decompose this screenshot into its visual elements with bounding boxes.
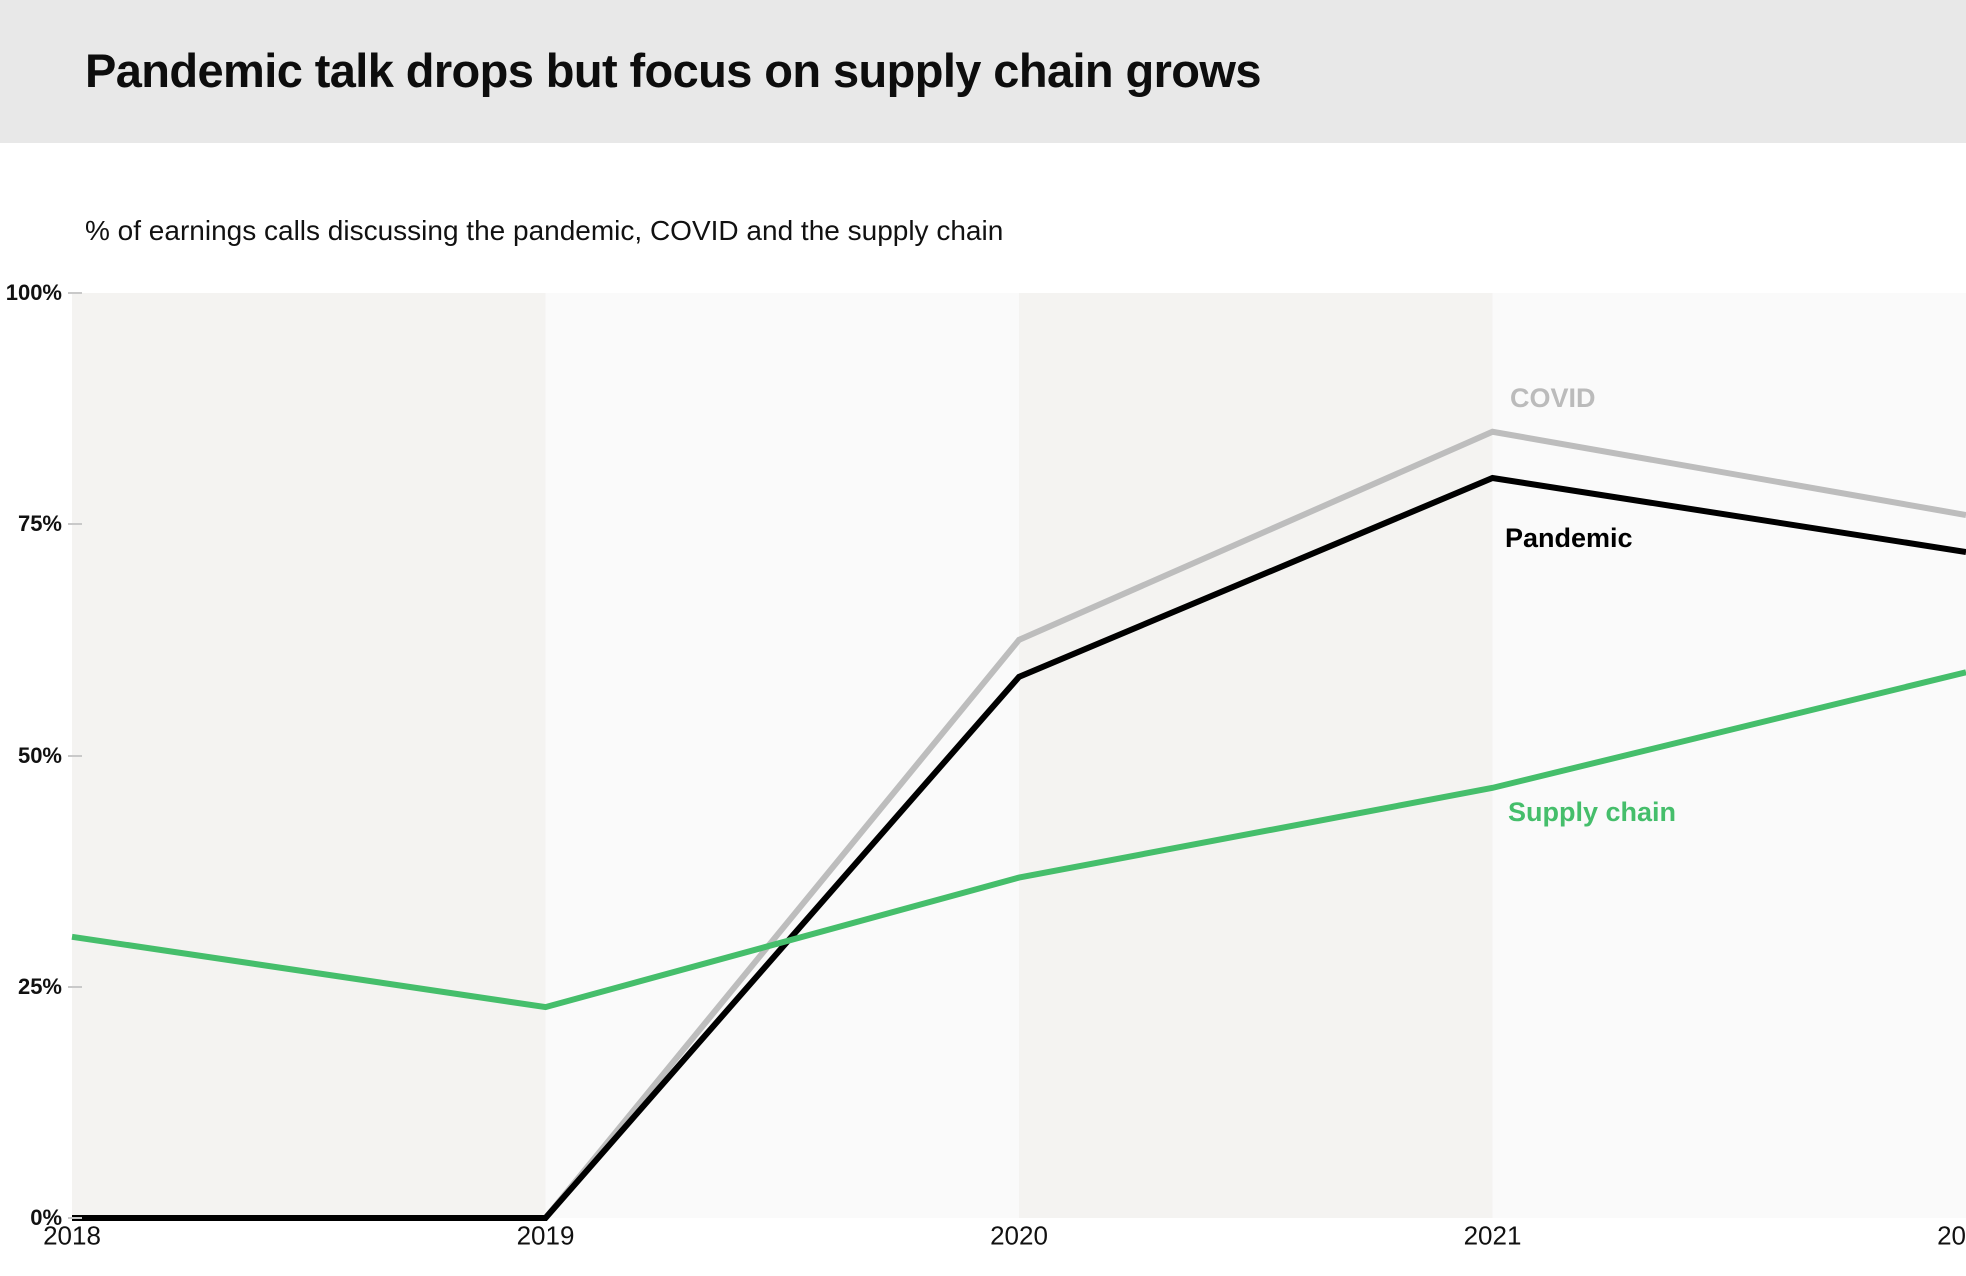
x-tick-label: 2020	[990, 1221, 1048, 1252]
year-band	[1493, 293, 1966, 1218]
y-tick-mark	[68, 292, 82, 294]
x-tick-label: 2018	[43, 1221, 101, 1252]
x-tick-label: 2022	[1937, 1221, 1966, 1252]
y-tick-label: 75%	[0, 511, 62, 537]
year-band	[72, 293, 546, 1218]
y-tick-mark	[68, 755, 82, 757]
y-tick-mark	[68, 523, 82, 525]
x-tick-label: 2021	[1464, 1221, 1522, 1252]
series-label-pandemic: Pandemic	[1505, 523, 1633, 554]
y-tick-mark	[68, 986, 82, 988]
series-label-supply-chain: Supply chain	[1508, 797, 1676, 828]
y-tick-label: 100%	[0, 280, 62, 306]
y-tick-mark	[68, 1217, 82, 1219]
series-label-covid: COVID	[1510, 383, 1596, 414]
chart-svg	[0, 0, 1966, 1276]
chart-plot-area: 0%25%50%75%100% 20182019202020212022 COV…	[0, 0, 1966, 1276]
x-tick-label: 2019	[517, 1221, 575, 1252]
y-tick-label: 50%	[0, 743, 62, 769]
alternating-year-bands	[72, 293, 1966, 1218]
y-tick-label: 25%	[0, 974, 62, 1000]
year-band	[1019, 293, 1493, 1218]
